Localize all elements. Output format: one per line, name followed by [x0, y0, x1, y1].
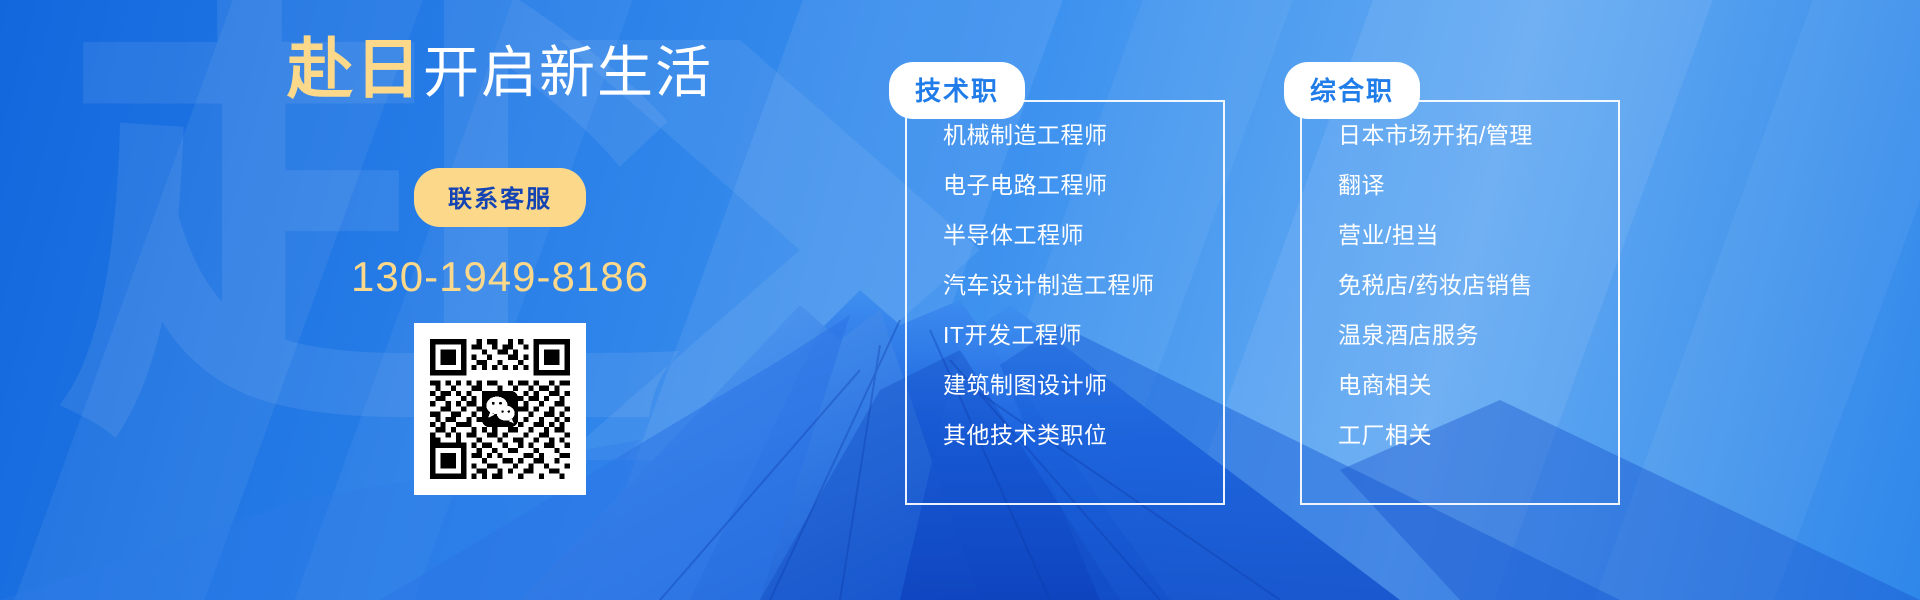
- list-item[interactable]: IT开发工程师: [943, 324, 1223, 374]
- panel-badge-general: 综合职: [1284, 62, 1420, 119]
- contact-column: 赴日开启新生活 联系客服 130-1949-8186: [150, 36, 850, 495]
- job-list-technical: 机械制造工程师 电子电路工程师 半导体工程师 汽车设计制造工程师 IT开发工程师…: [907, 102, 1223, 474]
- list-item[interactable]: 其他技术类职位: [943, 424, 1223, 474]
- list-item[interactable]: 工厂相关: [1338, 424, 1618, 474]
- panel-badge-technical: 技术职: [889, 62, 1025, 119]
- headline-accent: 赴日: [287, 32, 423, 106]
- list-item[interactable]: 日本市场开拓/管理: [1338, 124, 1618, 174]
- list-item[interactable]: 电子电路工程师: [943, 174, 1223, 224]
- list-item[interactable]: 翻译: [1338, 174, 1618, 224]
- phone-number: 130-1949-8186: [150, 253, 850, 301]
- list-item[interactable]: 免税店/药妆店销售: [1338, 274, 1618, 324]
- job-panel-technical: 技术职 机械制造工程师 电子电路工程师 半导体工程师 汽车设计制造工程师 IT开…: [905, 100, 1225, 505]
- contact-support-button[interactable]: 联系客服: [414, 168, 586, 227]
- list-item[interactable]: 建筑制图设计师: [943, 374, 1223, 424]
- list-item[interactable]: 温泉酒店服务: [1338, 324, 1618, 374]
- list-item[interactable]: 半导体工程师: [943, 224, 1223, 274]
- qr-code-icon: [425, 334, 575, 484]
- list-item[interactable]: 机械制造工程师: [943, 124, 1223, 174]
- list-item[interactable]: 电商相关: [1338, 374, 1618, 424]
- headline-rest: 开启新生活: [423, 41, 713, 104]
- list-item[interactable]: 营业/担当: [1338, 224, 1618, 274]
- cta-wrapper: 联系客服: [150, 168, 850, 227]
- job-list-general: 日本市场开拓/管理 翻译 营业/担当 免税店/药妆店销售 温泉酒店服务 电商相关…: [1302, 102, 1618, 474]
- list-item[interactable]: 汽车设计制造工程师: [943, 274, 1223, 324]
- promo-banner: 赴: [0, 0, 1920, 600]
- wechat-qr-code[interactable]: [414, 323, 586, 495]
- job-panel-general: 综合职 日本市场开拓/管理 翻译 营业/担当 免税店/药妆店销售 温泉酒店服务 …: [1300, 100, 1620, 505]
- page-title: 赴日开启新生活: [150, 36, 850, 102]
